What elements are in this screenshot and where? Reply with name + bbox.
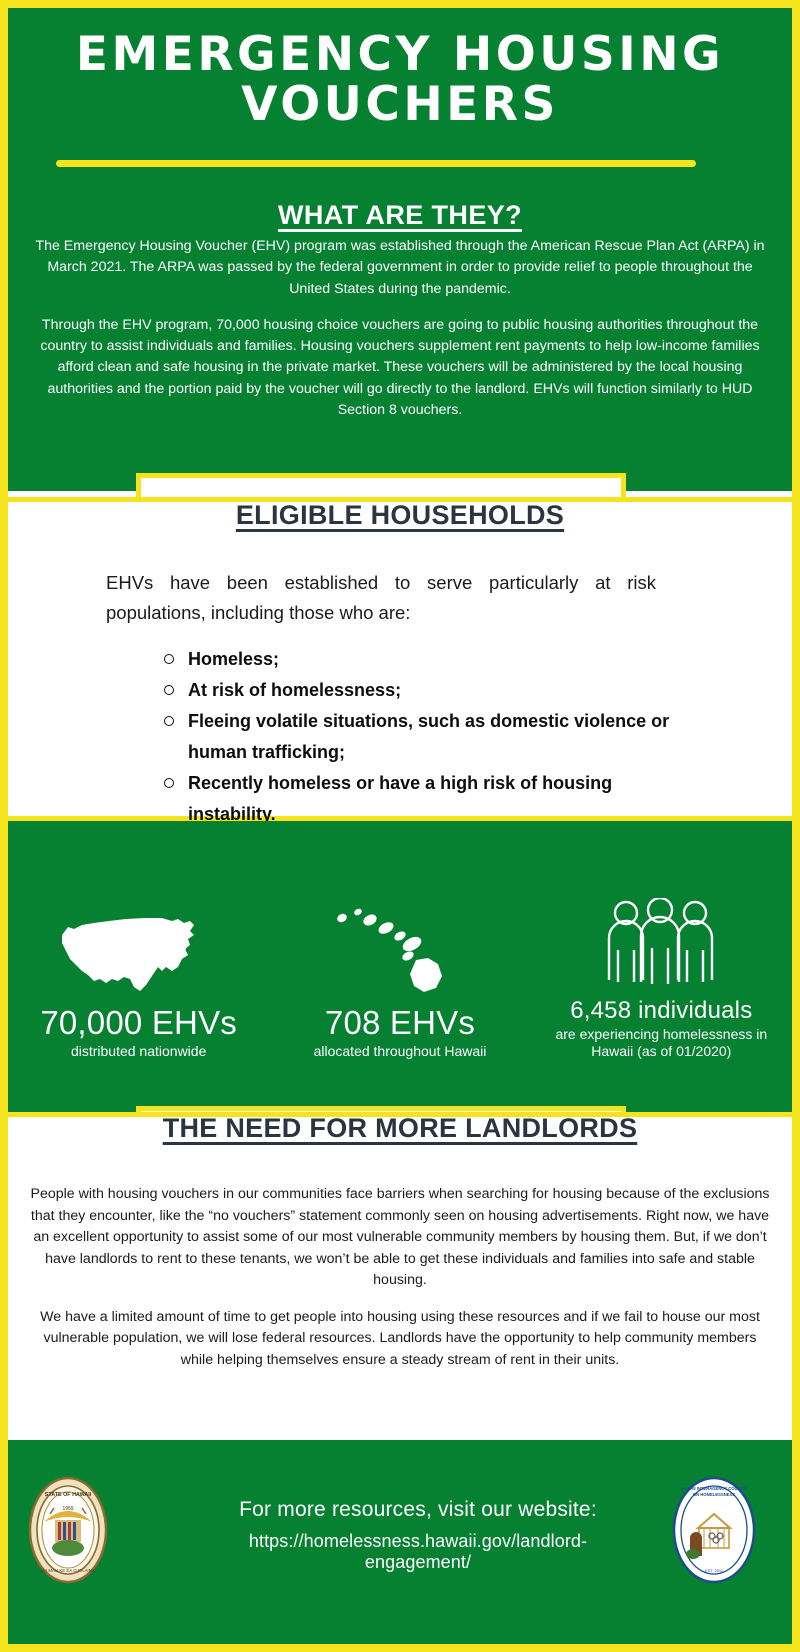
svg-text:STATE OF HAWAII: STATE OF HAWAII [45,1492,92,1498]
landlords-heading: THE NEED FOR MORE LANDLORDS [8,1113,792,1144]
three-people-icon [537,893,785,998]
state-of-hawaii-seal-icon: STATE OF HAWAII 1959 UA MAU KE EA O KA A… [28,1476,108,1584]
stat-caption: are experiencing homelessness in Hawaii … [537,1026,785,1060]
list-item: Fleeing volatile situations, such as dom… [158,706,678,768]
stat-caption: distributed nationwide [15,1043,263,1060]
eligible-households-heading: ELIGIBLE HOUSEHOLDS [8,500,792,531]
usa-map-icon [15,900,263,1005]
stat-value: 708 EHVs [276,1005,524,1042]
landlords-body: People with housing vouchers in our comm… [30,1184,770,1372]
title-divider [56,160,696,167]
svg-text:UA MAU KE EA O KA AINA: UA MAU KE EA O KA AINA [41,1568,95,1573]
statistics-row: 70,000 EHVs distributed nationwide [8,893,792,1059]
what-are-they-paragraph-2: Through the EHV program, 70,000 housing … [30,315,770,421]
footer-cta-label: For more resources, visit our website: [198,1498,638,1522]
stat-value: 70,000 EHVs [15,1005,263,1042]
infographic-inner-frame: Emergency Housing Vouchers WHAT ARE THEY… [8,8,792,1644]
infographic-page: Emergency Housing Vouchers WHAT ARE THEY… [0,0,800,1652]
stat-nationwide: 70,000 EHVs distributed nationwide [15,900,263,1060]
eligible-households-lead: EHVs have been established to serve part… [106,568,656,628]
what-are-they-paragraph-1: The Emergency Housing Voucher (EHV) prog… [30,236,770,300]
svg-text:EST. 2011: EST. 2011 [705,1568,724,1573]
svg-text:1959: 1959 [62,1506,73,1512]
list-item: Homeless; [158,644,678,675]
list-item: At risk of homelessness; [158,675,678,706]
landlords-paragraph-1: People with housing vouchers in our comm… [30,1184,770,1292]
what-are-they-heading: WHAT ARE THEY? [8,200,792,231]
landlords-paragraph-2: We have a limited amount of time to get … [30,1307,770,1372]
stat-caption: allocated throughout Hawaii [276,1043,524,1060]
footer-website-url[interactable]: https://homelessness.hawaii.gov/landlord… [198,1531,638,1573]
hawaii-islands-map-icon [276,900,524,1005]
what-are-they-body: The Emergency Housing Voucher (EHV) prog… [30,236,770,421]
stat-homelessness: 6,458 individuals are experiencing homel… [537,893,785,1059]
stat-hawaii: 708 EHVs allocated throughout Hawaii [276,900,524,1060]
page-title: Emergency Housing Vouchers [8,30,792,130]
footer-text-block: For more resources, visit our website: h… [198,1498,638,1573]
svg-text:HAWAII INTERAGENCY COUNCIL: HAWAII INTERAGENCY COUNCIL [681,1486,748,1491]
stat-value: 6,458 individuals [537,998,785,1025]
eligible-households-list: Homeless; At risk of homelessness; Fleei… [158,644,678,830]
svg-text:ON HOMELESSNESS: ON HOMELESSNESS [693,1492,736,1497]
hawaii-interagency-council-on-homelessness-seal-icon: HAWAII INTERAGENCY COUNCIL ON HOMELESSNE… [668,1476,760,1584]
